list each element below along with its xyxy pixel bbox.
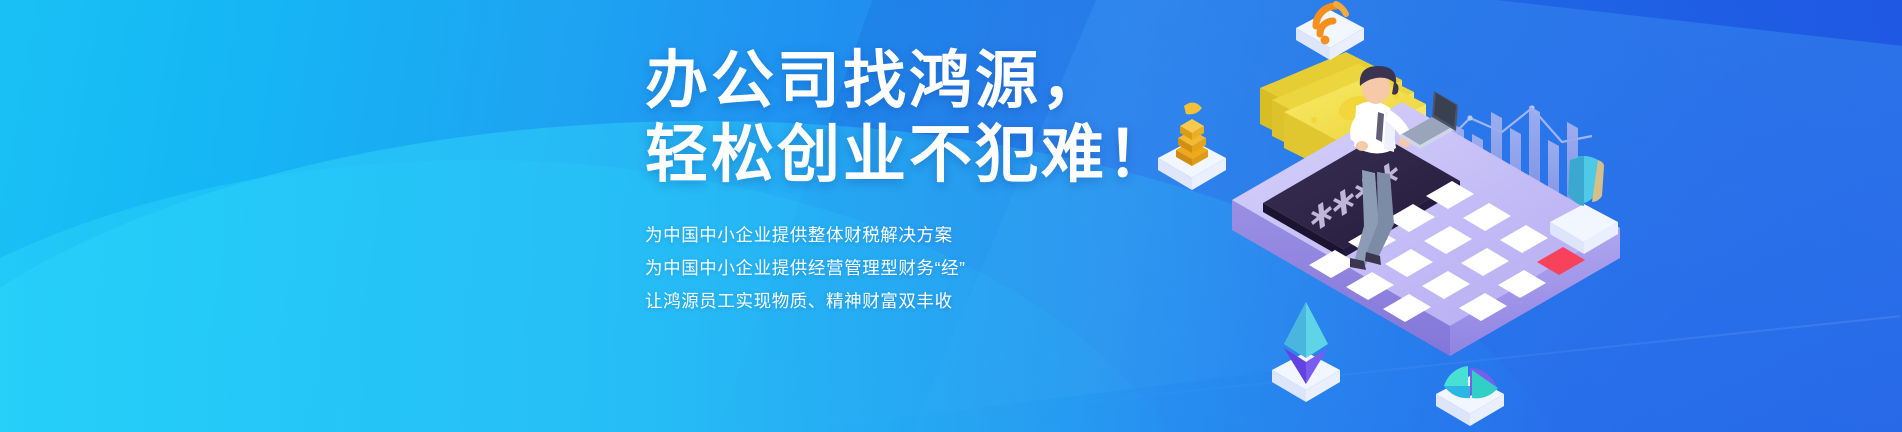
subtitle-line-1: 为中国中小企业提供整体财税解决方案	[645, 219, 1285, 252]
subtitle-line-2: 为中国中小企业提供经营管理型财务“经”	[645, 252, 1285, 285]
headline-line-2: 轻松创业不犯难！	[645, 118, 1285, 192]
subtitle-block: 为中国中小企业提供整体财税解决方案 为中国中小企业提供经营管理型财务“经” 让鸿…	[645, 219, 1285, 318]
pie-chart	[1436, 366, 1504, 426]
subtitle-line-3: 让鸿源员工实现物质、精神财富双丰收	[645, 285, 1285, 318]
orange-coin-pedestal	[1296, 4, 1364, 60]
headline-line-1: 办公司找鸿源，	[645, 44, 1285, 118]
hero-banner: 办公司找鸿源， 轻松创业不犯难！ 为中国中小企业提供整体财税解决方案 为中国中小…	[0, 0, 1902, 432]
banner-copy: 办公司找鸿源， 轻松创业不犯难！ 为中国中小企业提供整体财税解决方案 为中国中小…	[645, 44, 1285, 318]
